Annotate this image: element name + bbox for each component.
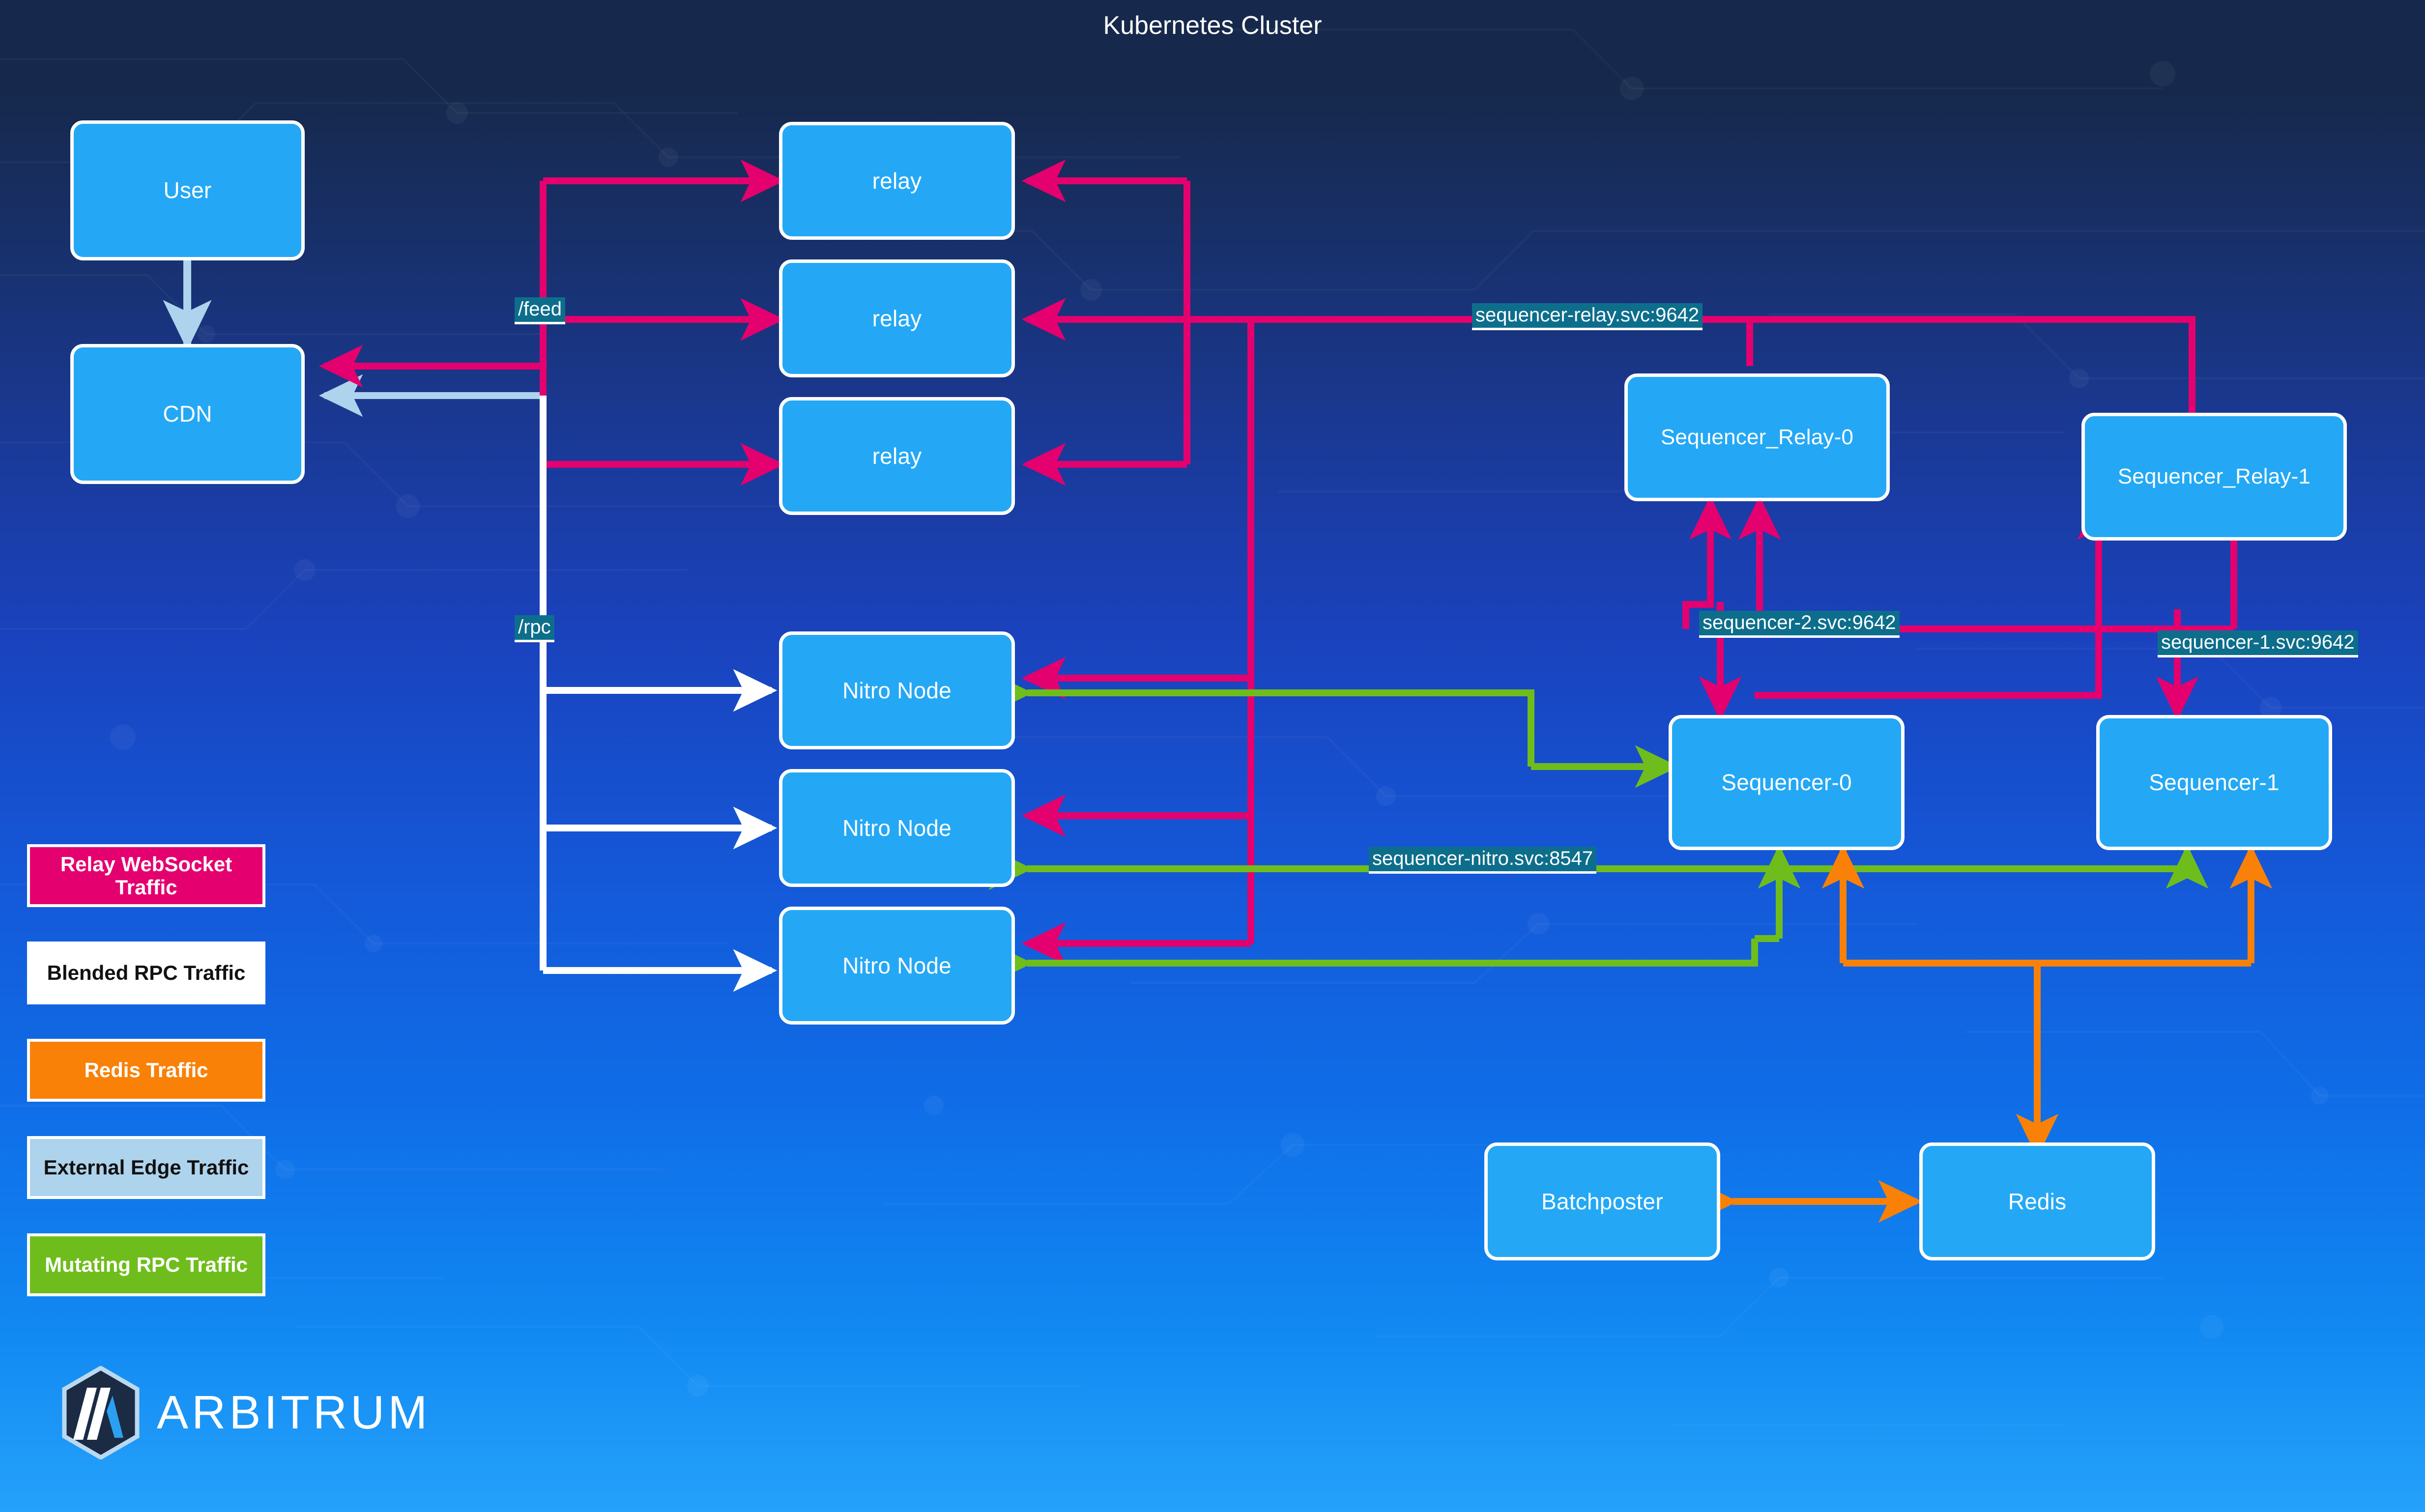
edge-label-sequencer-relay-svc: sequencer-relay.svc:9642 bbox=[1472, 303, 1703, 330]
arbitrum-logo: ARBITRUM bbox=[61, 1366, 431, 1459]
legend-item-label: External Edge Traffic bbox=[44, 1156, 249, 1179]
node-relay-3[interactable]: relay bbox=[779, 397, 1015, 515]
node-user[interactable]: User bbox=[70, 120, 305, 260]
legend-item-label: Blended RPC Traffic bbox=[47, 961, 246, 984]
node-cdn[interactable]: CDN bbox=[70, 344, 305, 484]
node-redis[interactable]: Redis bbox=[1919, 1142, 2155, 1260]
node-nitro-2[interactable]: Nitro Node bbox=[779, 769, 1015, 887]
legend-item-label: Redis Traffic bbox=[84, 1058, 208, 1082]
arbitrum-mark-icon bbox=[61, 1366, 140, 1459]
diagram-canvas: Kubernetes Cluster User CDN relay relay … bbox=[0, 0, 2425, 1512]
edge-label-rpc: /rpc bbox=[515, 615, 554, 642]
edge-label-feed: /feed bbox=[515, 297, 565, 324]
node-sequencer-0[interactable]: Sequencer-0 bbox=[1669, 715, 1905, 850]
legend-item-label: Relay WebSocket Traffic bbox=[34, 853, 259, 899]
edge-label-sequencer-nitro-svc: sequencer-nitro.svc:8547 bbox=[1369, 847, 1596, 874]
legend-item-relay-websocket[interactable]: Relay WebSocket Traffic bbox=[27, 844, 265, 907]
node-nitro-1[interactable]: Nitro Node bbox=[779, 631, 1015, 749]
legend-item-blended-rpc[interactable]: Blended RPC Traffic bbox=[27, 941, 265, 1004]
connector-layer bbox=[0, 0, 2425, 1512]
node-relay-1[interactable]: relay bbox=[779, 122, 1015, 240]
legend-item-redis[interactable]: Redis Traffic bbox=[27, 1039, 265, 1102]
legend-item-label: Mutating RPC Traffic bbox=[45, 1253, 248, 1276]
legend: Relay WebSocket Traffic Blended RPC Traf… bbox=[27, 844, 265, 1331]
node-sequencer-1[interactable]: Sequencer-1 bbox=[2096, 715, 2332, 850]
node-sequencer-relay-1[interactable]: Sequencer_Relay-1 bbox=[2081, 413, 2347, 541]
arbitrum-wordmark: ARBITRUM bbox=[157, 1386, 431, 1440]
legend-item-mutating-rpc[interactable]: Mutating RPC Traffic bbox=[27, 1233, 265, 1296]
node-sequencer-relay-0[interactable]: Sequencer_Relay-0 bbox=[1624, 373, 1890, 501]
edge-label-sequencer-2-svc: sequencer-2.svc:9642 bbox=[1699, 611, 1900, 638]
node-batchposter[interactable]: Batchposter bbox=[1484, 1142, 1720, 1260]
edge-label-sequencer-1-svc: sequencer-1.svc:9642 bbox=[2158, 630, 2358, 657]
node-relay-2[interactable]: relay bbox=[779, 259, 1015, 377]
legend-item-external-edge[interactable]: External Edge Traffic bbox=[27, 1136, 265, 1199]
page-title: Kubernetes Cluster bbox=[0, 11, 2425, 40]
node-nitro-3[interactable]: Nitro Node bbox=[779, 907, 1015, 1025]
